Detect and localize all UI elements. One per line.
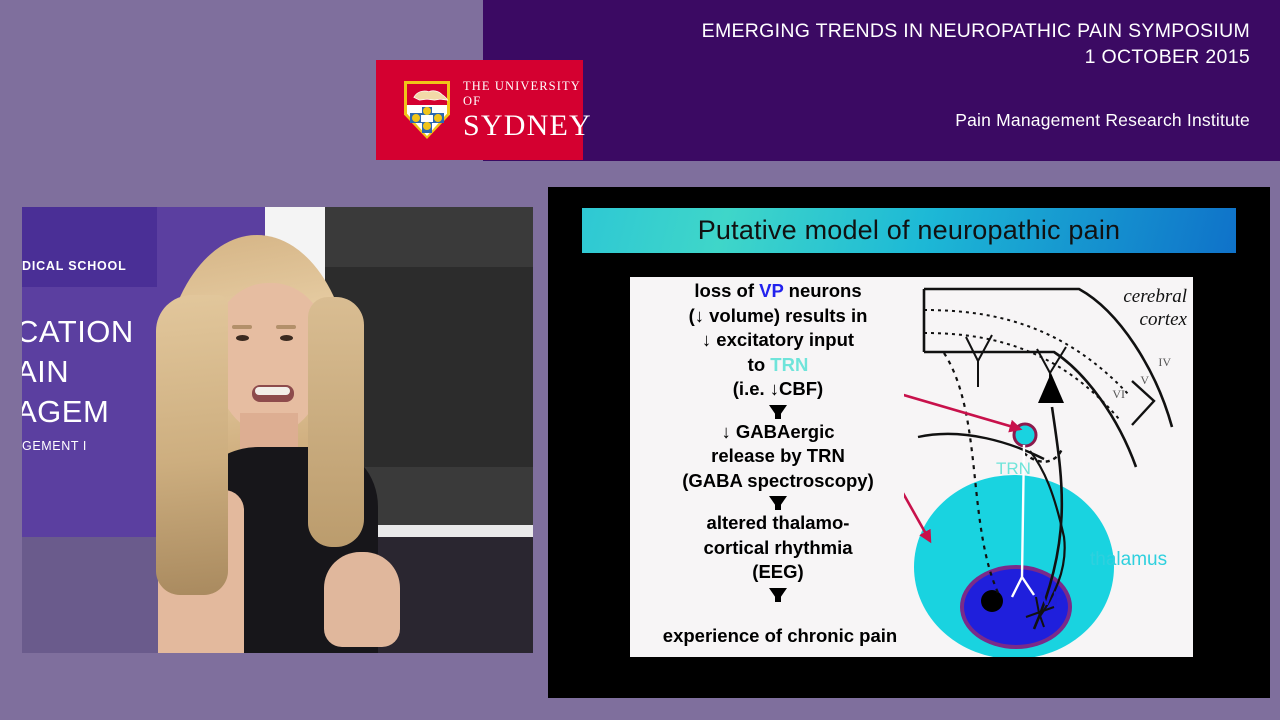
- flow-step-8: (GABA spectroscopy): [642, 469, 914, 494]
- cortex-layer-line-2: [924, 333, 1119, 419]
- flow-arrow-2-icon: [769, 496, 787, 509]
- flow-step-1-post: neurons: [784, 280, 862, 301]
- flow-step-6: ↓ GABAergic: [642, 420, 914, 445]
- flow-arrow-1-icon: [769, 405, 787, 418]
- speaker-hand: [324, 552, 400, 647]
- header-title-block: EMERGING TRENDS IN NEUROPATHIC PAIN SYMP…: [630, 18, 1250, 71]
- logo-wordmark: THE UNIVERSITY OF SYDNEY: [463, 79, 592, 142]
- cerebral-label-line2: cortex: [1123, 308, 1187, 331]
- flow-step-1: loss of VP neurons: [642, 279, 914, 304]
- flow-step-9: altered thalamo-: [642, 511, 914, 536]
- slide-title: Putative model of neuropathic pain: [698, 215, 1121, 246]
- cortical-layer-vi-label: VI: [1112, 387, 1125, 402]
- logo-sydney: SYDNEY: [463, 109, 592, 142]
- flow-step-4-pre: to: [748, 354, 771, 375]
- trn-highlight: TRN: [770, 354, 808, 375]
- flow-step-final: experience of chronic pain: [630, 625, 930, 647]
- header-band: EMERGING TRENDS IN NEUROPATHIC PAIN SYMP…: [483, 0, 1280, 161]
- red-annotation-arrow-2: [904, 385, 930, 541]
- symposium-title: EMERGING TRENDS IN NEUROPATHIC PAIN SYMP…: [630, 18, 1250, 44]
- presentation-screen: EMERGING TRENDS IN NEUROPATHIC PAIN SYMP…: [0, 0, 1280, 720]
- flow-step-3: ↓ excitatory input: [642, 328, 914, 353]
- flow-chart-text: loss of VP neurons (↓ volume) results in…: [642, 279, 914, 603]
- pyramidal-neuron-1: [966, 335, 992, 387]
- flow-arrow-3-icon: [769, 588, 787, 601]
- institute-name: Pain Management Research Institute: [630, 110, 1250, 131]
- university-logo: THE UNIVERSITY OF SYDNEY: [376, 60, 583, 160]
- cortical-layer-iv-label: IV: [1158, 355, 1171, 370]
- flow-step-10: cortical rhythmia: [642, 536, 914, 561]
- flow-step-2: (↓ volume) results in: [642, 304, 914, 329]
- vp-neuron-soma: [981, 590, 1003, 612]
- slide-diagram: loss of VP neurons (↓ volume) results in…: [630, 277, 1193, 657]
- logo-the-university-of: THE UNIVERSITY OF: [463, 79, 592, 109]
- flow-step-11: (EEG): [642, 560, 914, 585]
- slide-panel[interactable]: Putative model of neuropathic pain loss …: [548, 187, 1270, 698]
- vp-label: VP: [1040, 589, 1065, 611]
- thalamus-label: thalamus: [1090, 549, 1167, 571]
- flow-step-4: to TRN: [642, 353, 914, 378]
- flow-step-7: release by TRN: [642, 444, 914, 469]
- cerebral-cortex-label: cerebral cortex: [1123, 285, 1187, 331]
- brain-schematic: cerebral cortex TRN thalamus VP IV V VI: [904, 277, 1193, 657]
- pyramidal-neuron-soma: [1038, 373, 1064, 403]
- flow-step-5: (i.e. ↓CBF): [642, 377, 914, 402]
- cortical-layer-v-label: V: [1140, 373, 1149, 388]
- slide-title-bar: Putative model of neuropathic pain: [582, 208, 1236, 253]
- cerebral-label-line1: cerebral: [1123, 285, 1187, 308]
- trn-label: TRN: [996, 459, 1031, 479]
- speaker-video-panel[interactable]: DICAL SCHOOL CATION AIN AGEM GEMENT I: [22, 207, 533, 653]
- sydney-crest-icon: [404, 81, 450, 139]
- vp-highlight: VP: [759, 280, 783, 301]
- lion-icon: [412, 87, 450, 102]
- symposium-date: 1 OCTOBER 2015: [630, 44, 1250, 71]
- flow-step-1-pre: loss of: [694, 280, 759, 301]
- red-annotation-arrow-1: [904, 377, 1020, 429]
- backdrop-top-band: [22, 207, 157, 287]
